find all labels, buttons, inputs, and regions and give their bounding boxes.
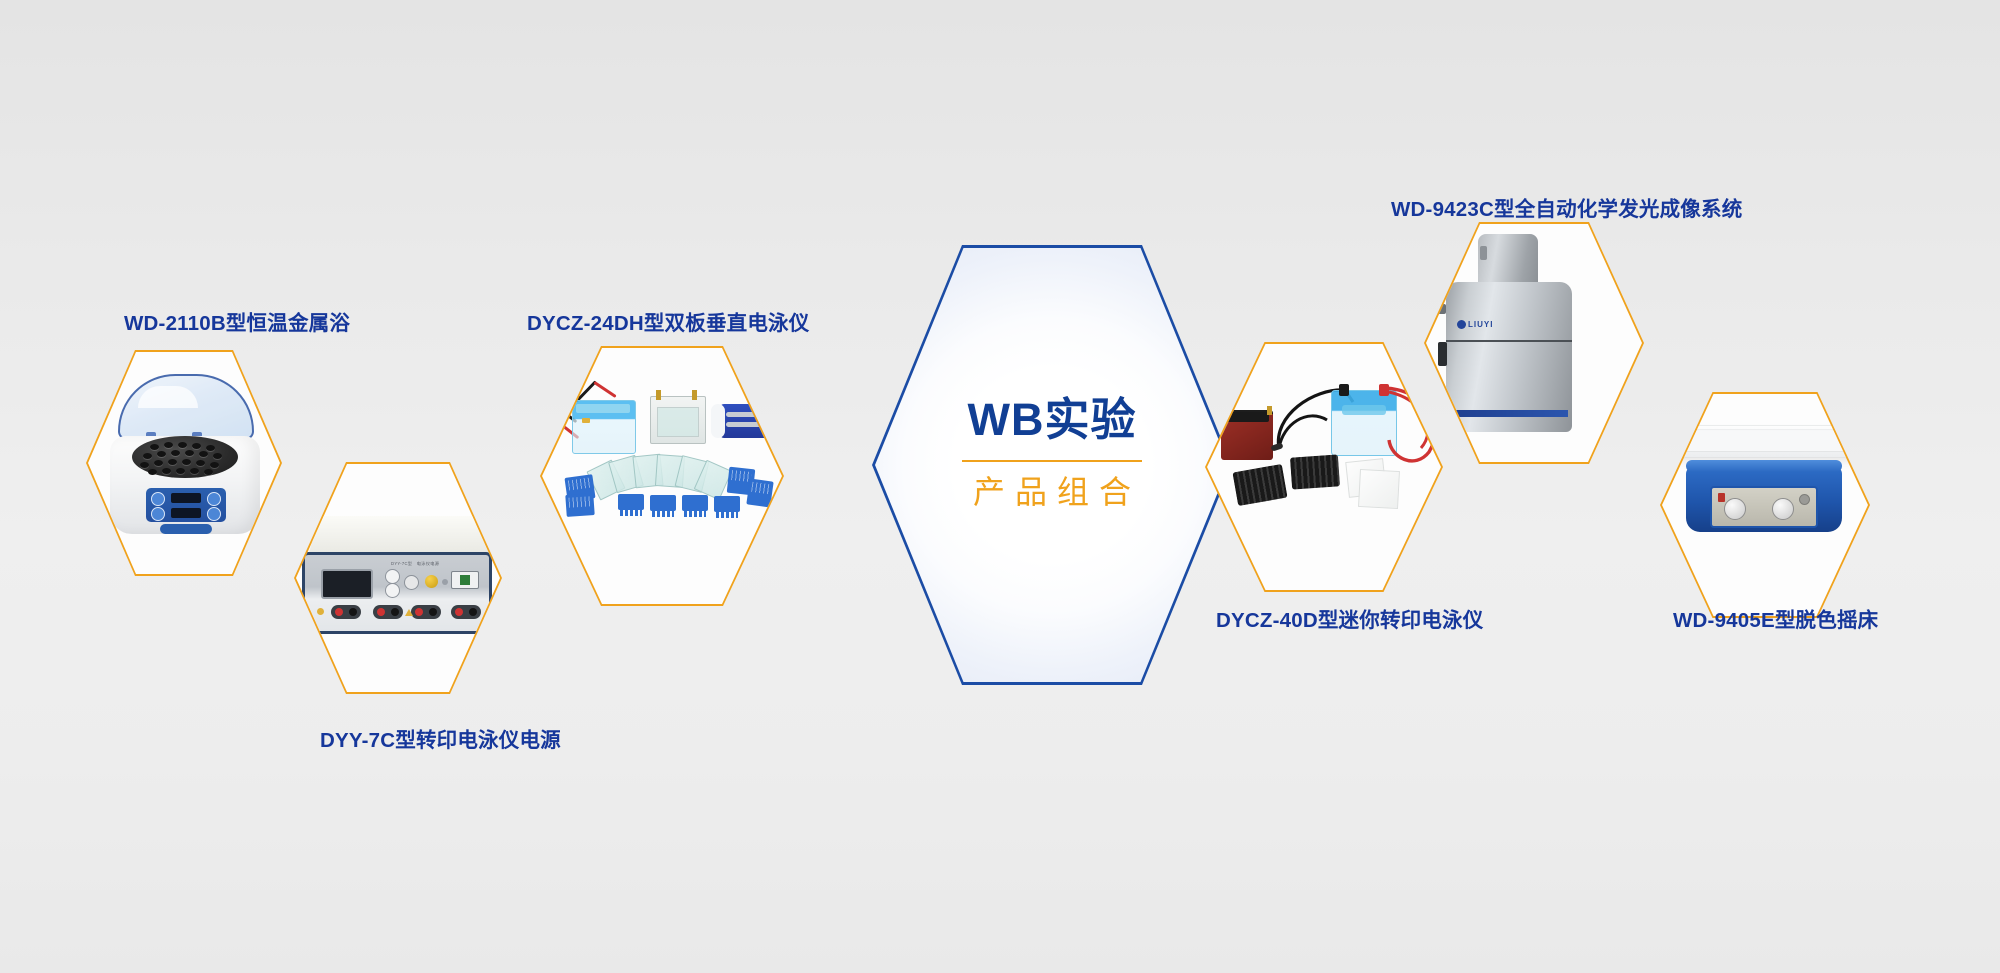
diagram-canvas: WB实验 产品组合 <box>0 0 2000 973</box>
page-title: WB实验 <box>872 397 1232 442</box>
center-hexagon: WB实验 产品组合 <box>872 245 1232 685</box>
chemiluminescence-imager-icon: LIUYI <box>1426 224 1642 462</box>
product-label-dycz-40d: DYCZ-40D型迷你转印电泳仪 <box>1216 603 1483 633</box>
product-hexagon-wd-9423c[interactable]: LIUYI <box>1424 222 1644 464</box>
product-hexagon-dycz-24dh[interactable] <box>540 346 784 606</box>
product-label-wd-9423c: WD-9423C型全自动化学发光成像系统 <box>1391 192 1742 222</box>
product-label-dycz-24dh: DYCZ-24DH型双板垂直电泳仪 <box>527 306 809 336</box>
product-hexagon-dycz-40d[interactable] <box>1205 342 1443 592</box>
product-label-wd-2110b: WD-2110B型恒温金属浴 <box>124 306 350 336</box>
metal-bath-icon <box>88 352 280 574</box>
mini-transfer-icon <box>1207 344 1441 590</box>
hex-inner <box>1662 394 1868 616</box>
product-hexagon-dyy-7c[interactable]: DYY-7C型 电泳仪电源 <box>294 462 502 694</box>
product-label-dyy-7c: DYY-7C型转印电泳仪电源 <box>320 723 561 753</box>
hex-inner: DYY-7C型 电泳仪电源 <box>296 464 500 692</box>
hex-inner <box>542 348 782 604</box>
product-label-wd-9405e: WD-9405E型脱色摇床 <box>1673 603 1878 633</box>
imager-brand-mark: LIUYI <box>1468 320 1493 329</box>
title-divider <box>962 460 1142 462</box>
center-title-block: WB实验 产品组合 <box>872 397 1232 508</box>
power-supply-icon: DYY-7C型 电泳仪电源 <box>296 464 500 692</box>
vertical-electrophoresis-icon <box>542 348 782 604</box>
hex-inner <box>88 352 280 574</box>
page-subtitle: 产品组合 <box>872 476 1232 508</box>
product-hexagon-wd-9405e[interactable] <box>1660 392 1870 618</box>
hex-inner <box>1207 344 1441 590</box>
decolorizing-shaker-icon <box>1662 394 1868 616</box>
product-hexagon-wd-2110b[interactable] <box>86 350 282 576</box>
hex-inner: LIUYI <box>1426 224 1642 462</box>
